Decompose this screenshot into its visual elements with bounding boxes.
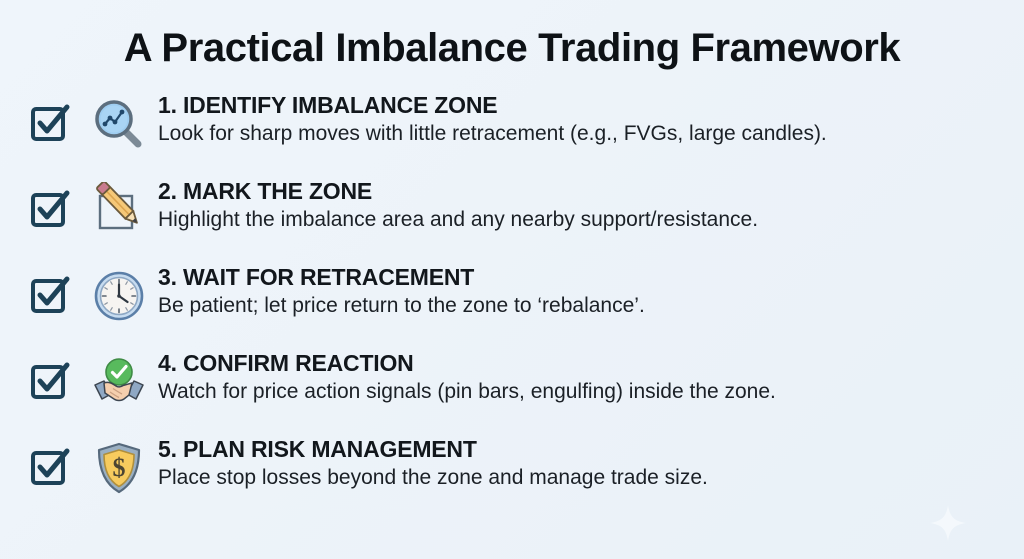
clock-icon: [91, 268, 147, 324]
steps-list: 1. IDENTIFY IMBALANCE ZONE Look for shar…: [0, 90, 1024, 520]
checkbox-step-3[interactable]: [28, 262, 88, 316]
memo-pencil-icon: [91, 182, 147, 238]
checkbox-step-4[interactable]: [28, 348, 88, 402]
checkbox-step-1[interactable]: [28, 90, 88, 144]
page-title: A Practical Imbalance Trading Framework: [0, 0, 1024, 70]
list-item: 1. IDENTIFY IMBALANCE ZONE Look for shar…: [28, 90, 1008, 176]
step-title: 2. MARK THE ZONE: [158, 178, 1008, 205]
step-icon-4: [88, 348, 150, 410]
checkbox-checked-icon: [28, 100, 72, 144]
list-item: $ 5. PLAN RISK MANAGEMENT Place stop los…: [28, 434, 1008, 520]
step-title: 1. IDENTIFY IMBALANCE ZONE: [158, 92, 1008, 119]
step-text-2: 2. MARK THE ZONE Highlight the imbalance…: [150, 176, 1008, 234]
step-text-4: 4. CONFIRM REACTION Watch for price acti…: [150, 348, 1008, 406]
checkbox-step-2[interactable]: [28, 176, 88, 230]
step-text-5: 5. PLAN RISK MANAGEMENT Place stop losse…: [150, 434, 1008, 492]
step-title: 3. WAIT FOR RETRACEMENT: [158, 264, 1008, 291]
list-item: 2. MARK THE ZONE Highlight the imbalance…: [28, 176, 1008, 262]
step-text-1: 1. IDENTIFY IMBALANCE ZONE Look for shar…: [150, 90, 1008, 148]
checkbox-checked-icon: [28, 444, 72, 488]
step-description: Highlight the imbalance area and any nea…: [158, 207, 1008, 233]
step-title: 4. CONFIRM REACTION: [158, 350, 1008, 377]
step-icon-5: $: [88, 434, 150, 496]
step-description: Look for sharp moves with little retrace…: [158, 121, 1008, 147]
list-item: 4. CONFIRM REACTION Watch for price acti…: [28, 348, 1008, 434]
step-description: Place stop losses beyond the zone and ma…: [158, 465, 1008, 491]
step-icon-1: [88, 90, 150, 152]
step-title: 5. PLAN RISK MANAGEMENT: [158, 436, 1008, 463]
checkbox-checked-icon: [28, 358, 72, 402]
step-description: Watch for price action signals (pin bars…: [158, 379, 1008, 405]
checkbox-checked-icon: [28, 272, 72, 316]
step-description: Be patient; let price return to the zone…: [158, 293, 1008, 319]
svg-text:$: $: [113, 453, 126, 482]
magnifying-glass-chart-icon: [91, 96, 147, 152]
list-item: 3. WAIT FOR RETRACEMENT Be patient; let …: [28, 262, 1008, 348]
infographic-canvas: A Practical Imbalance Trading Framework: [0, 0, 1024, 559]
checkbox-checked-icon: [28, 186, 72, 230]
handshake-check-icon: [91, 354, 147, 410]
checkbox-step-5[interactable]: [28, 434, 88, 488]
step-icon-2: [88, 176, 150, 238]
shield-dollar-icon: $: [91, 440, 147, 496]
step-icon-3: [88, 262, 150, 324]
step-text-3: 3. WAIT FOR RETRACEMENT Be patient; let …: [150, 262, 1008, 320]
